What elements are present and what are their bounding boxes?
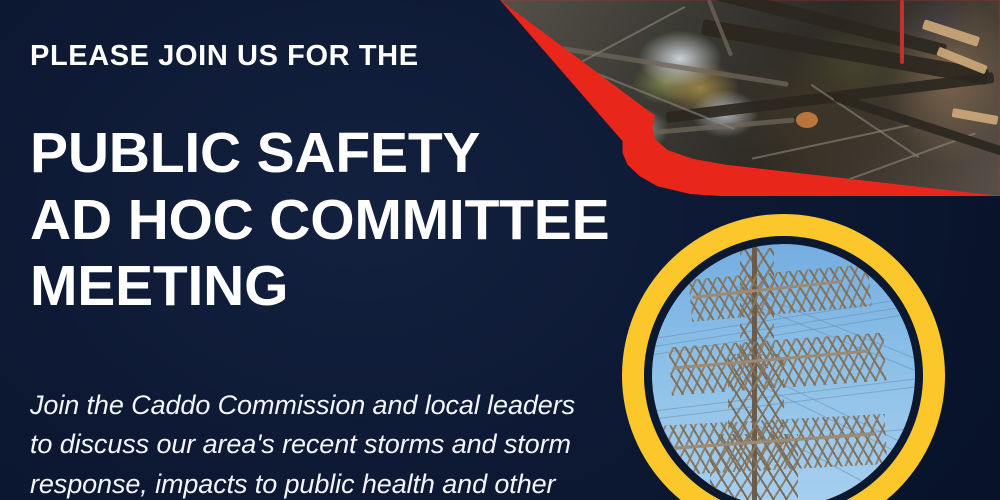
headline-line-2: AD HOC COMMITTEE — [30, 187, 630, 254]
body-copy: Join the Caddo Commission and local lead… — [30, 386, 620, 500]
transmission-tower-photo — [652, 244, 915, 500]
page-title: PUBLIC SAFETY AD HOC COMMITTEE MEETING — [30, 120, 630, 320]
text-column: PLEASE JOIN US FOR THE PUBLIC SAFETY AD … — [30, 0, 630, 500]
public-safety-meeting-flyer: PLEASE JOIN US FOR THE PUBLIC SAFETY AD … — [0, 0, 1000, 500]
body-line-1: Join the Caddo Commission and local lead… — [30, 386, 620, 425]
climbing-rope — [900, 0, 904, 64]
body-line-2: to discuss our area's recent storms and … — [30, 425, 620, 464]
headline-line-1: PUBLIC SAFETY — [30, 120, 630, 187]
transmission-tower-badge — [622, 214, 945, 500]
eyebrow-text: PLEASE JOIN US FOR THE — [30, 42, 419, 71]
body-line-3: response, impacts to public health and o… — [30, 465, 620, 500]
headline-line-3: MEETING — [30, 253, 630, 320]
cut-branch-end — [796, 112, 818, 128]
